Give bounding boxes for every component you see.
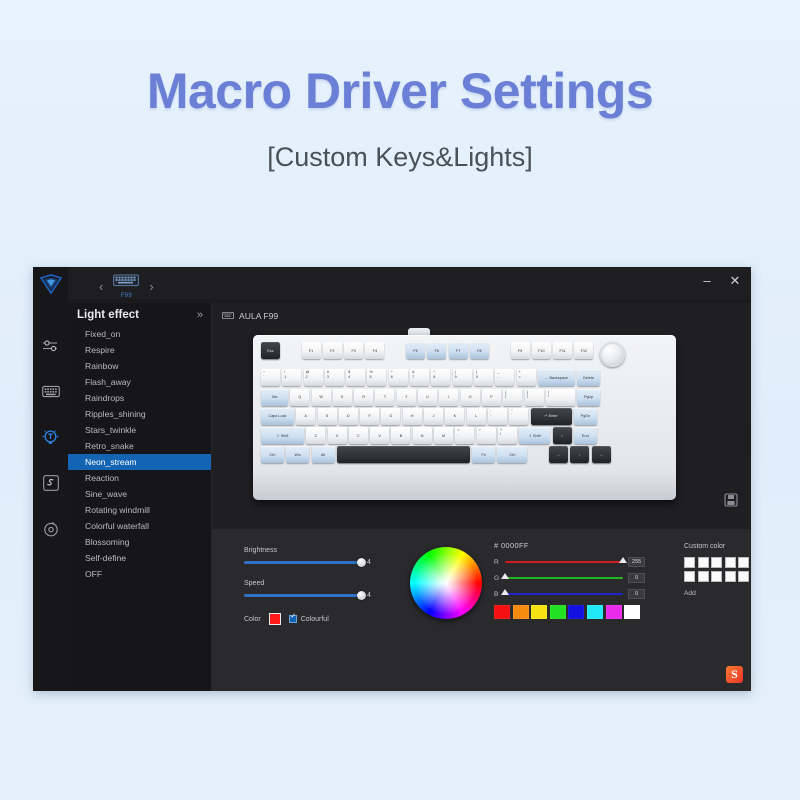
target-icon[interactable] [33, 513, 68, 545]
key-legend: F3 [344, 348, 363, 352]
page-root: Macro Driver Settings [Custom Keys&Light… [0, 0, 800, 800]
key-legend: F11 [553, 348, 572, 352]
keyboard-key[interactable]: ^ 6 [389, 369, 408, 386]
key-legend: F9 [511, 348, 530, 352]
keyboard-key[interactable]: W [312, 389, 331, 406]
key-legend: S [318, 414, 337, 418]
key-legend: } ] [527, 390, 528, 398]
keyboard-key[interactable]: } ] [525, 389, 544, 406]
rgb-group: # 0000FF R255G0B0 [494, 541, 666, 619]
keyboard-key[interactable]: ) 0 [474, 369, 493, 386]
keyboard-key[interactable]: Y [397, 389, 416, 406]
keyboard-key[interactable]: @ 2 [304, 369, 323, 386]
keyboard-key[interactable]: F7 [449, 342, 468, 359]
keyboard-key[interactable]: { [ [503, 389, 522, 406]
rgb-channel-label: R [494, 559, 500, 566]
key-legend: O [461, 395, 480, 399]
keyboard-key[interactable]: F [360, 408, 379, 425]
keyboard-row: ~ `! 1@ 2# 3$ 4% 5^ 6& 7* 8( 9) 0_ -+ =←… [261, 369, 668, 386]
light-effect-header: Light effect » [68, 303, 211, 324]
key-legend: F6 [427, 348, 446, 352]
keyboard-key[interactable]: S [318, 408, 337, 425]
light-effect-item[interactable]: Neon_stream [68, 454, 211, 470]
keyboard-key[interactable]: < , [455, 427, 474, 444]
keyboard-key[interactable]: ? / [498, 427, 517, 444]
colourful-label: Colourful [301, 616, 329, 623]
key-legend: ( 9 [455, 370, 457, 378]
rgb-slider-row: B0 [494, 589, 666, 599]
rgb-slider-rows: R255G0B0 [494, 557, 666, 599]
keyboard-key[interactable]: ( 9 [453, 369, 472, 386]
key-legend: Y [397, 395, 416, 399]
keyboard-row: Caps LockASDFGHJKL: ;" '↵ EnterPgDn [261, 408, 668, 425]
key-legend: @ 2 [306, 370, 310, 378]
rgb-slider-thumb[interactable] [501, 589, 509, 595]
keyboard-key[interactable]: ⇧ Shift [519, 427, 550, 444]
rgb-slider-b[interactable] [505, 593, 623, 595]
keyboard-key[interactable]: T [375, 389, 394, 406]
keyboard-key[interactable]: Esc [261, 342, 280, 359]
volume-knob[interactable] [600, 342, 625, 367]
color-row: Color Colourful [244, 613, 392, 625]
keyboard-key[interactable]: : ; [488, 408, 507, 425]
key-legend: ⇧ Shift [519, 434, 550, 438]
key-legend: Ctrl [261, 453, 284, 457]
custom-color-grid [684, 557, 751, 582]
keyboard-key[interactable]: P [482, 389, 501, 406]
keyboard-key[interactable]: K [445, 408, 464, 425]
control-bar: Brightness 4 Speed 4 [212, 529, 751, 691]
key-legend: V [370, 434, 389, 438]
device-switcher: ‹ [99, 274, 154, 299]
custom-color-slot[interactable] [698, 571, 709, 582]
custom-color-slot[interactable] [738, 571, 749, 582]
slider-group: Brightness 4 Speed 4 [244, 547, 392, 625]
key-legend: I [439, 395, 458, 399]
keyboard-key[interactable]: F8 [470, 342, 489, 359]
driver-app-window: – ✕ [33, 267, 751, 691]
keyboard-key[interactable] [337, 446, 470, 463]
light-effect-item[interactable]: Blossoming [68, 534, 211, 550]
rgb-value-input[interactable]: 0 [628, 589, 645, 599]
light-effect-item[interactable]: Respire [68, 342, 211, 358]
key-legend: ↓ [570, 453, 589, 457]
device-chip[interactable]: F99 [113, 274, 139, 299]
speed-slider-row: 4 [244, 592, 392, 599]
keyboard-key[interactable]: X [328, 427, 347, 444]
key-legend: K [445, 414, 464, 418]
current-color-swatch[interactable] [269, 613, 281, 625]
color-label: Color [244, 616, 261, 623]
speed-slider[interactable] [244, 594, 362, 597]
watermark-badge: S [726, 666, 743, 683]
keyboard-key[interactable]: Caps Lock [261, 408, 294, 425]
light-effect-item[interactable]: Sine_wave [68, 486, 211, 502]
keyboard-key[interactable]: O [461, 389, 480, 406]
key-legend: J [424, 414, 443, 418]
keyboard-key[interactable]: I [439, 389, 458, 406]
keyboard-key[interactable]: ← Backspace [538, 369, 575, 386]
key-legend: | \ [548, 390, 549, 398]
key-legend: F5 [406, 348, 425, 352]
keyboard-key[interactable]: * 8 [431, 369, 450, 386]
prev-device-button[interactable]: ‹ [99, 279, 103, 294]
key-legend: T [375, 395, 394, 399]
key-legend: { [ [505, 390, 506, 398]
keyboard-key[interactable]: U [418, 389, 437, 406]
key-legend: Q [290, 395, 309, 399]
hex-value-label: # 0000FF [494, 541, 666, 550]
light-effect-title: Light effect [77, 309, 139, 321]
key-legend: → [592, 453, 611, 457]
rgb-slider-thumb[interactable] [501, 573, 509, 579]
custom-color-slot[interactable] [725, 571, 736, 582]
keyboard-key[interactable]: R [354, 389, 373, 406]
keyboard-key[interactable]: Ctrl [497, 446, 527, 463]
device-keyboard-icon [113, 274, 139, 292]
keyboard-spacer [282, 342, 299, 359]
light-effect-panel: Light effect » Fixed_onRespireRainbowFla… [68, 303, 212, 691]
key-legend: + = [519, 370, 521, 378]
key-legend: W [312, 395, 331, 399]
keyboard-key[interactable]: H [403, 408, 422, 425]
speed-value: 4 [367, 592, 371, 599]
key-legend: End [574, 434, 597, 438]
macro-icon[interactable] [33, 467, 68, 499]
light-effect-item[interactable]: Rainbow [68, 358, 211, 374]
preset-color-swatch[interactable] [550, 605, 566, 619]
keyboard-key[interactable]: A [296, 408, 315, 425]
keyboard-key[interactable]: Delete [577, 369, 600, 386]
keyboard-key[interactable]: F3 [344, 342, 363, 359]
sliders-icon[interactable] [33, 329, 68, 361]
preset-color-swatch[interactable] [587, 605, 603, 619]
light-effect-item[interactable]: Retro_snake [68, 438, 211, 454]
key-legend: D [339, 414, 358, 418]
collapse-panel-button[interactable]: » [197, 309, 203, 321]
key-legend: F [360, 414, 379, 418]
keyboard-key[interactable]: Fn [472, 446, 495, 463]
connected-device-label: AULA F99 [222, 311, 278, 321]
save-icon[interactable] [724, 493, 738, 507]
key-legend: Esc [261, 348, 280, 352]
key-legend: ← [549, 453, 568, 457]
preset-color-swatch[interactable] [568, 605, 584, 619]
key-legend: ↑ [553, 434, 572, 438]
keyboard-row: ⇧ ShiftZXCVBNM< ,> .? /⇧ Shift↑End [261, 427, 668, 444]
keyboard-row: EscF1F2F3F4F5F6F7F8F9F10F11F12 [261, 342, 668, 367]
key-legend: ↵ Enter [531, 414, 572, 418]
keyboard-key[interactable]: End [574, 427, 597, 444]
keyboard-key[interactable]: F1 [302, 342, 321, 359]
keyboard-spacer [530, 446, 547, 463]
keyboard-key[interactable]: PgUp [577, 389, 600, 406]
keyboard-key[interactable]: " ' [509, 408, 528, 425]
checkbox-checked-icon [289, 615, 297, 623]
key-legend: ~ ` [263, 370, 265, 378]
key-legend: Alt [312, 453, 335, 457]
key-legend: F4 [365, 348, 384, 352]
key-legend: ⇧ Shift [261, 434, 304, 438]
key-legend: L [467, 414, 486, 418]
key-legend: ) 0 [476, 370, 478, 378]
keyboard-preview[interactable]: EscF1F2F3F4F5F6F7F8F9F10F11F12~ `! 1@ 2#… [253, 335, 676, 500]
key-legend: PgUp [577, 395, 600, 399]
custom-color-slot[interactable] [725, 557, 736, 568]
custom-color-group: Custom color Add [684, 543, 751, 597]
keyboard-key[interactable]: M [434, 427, 453, 444]
rgb-slider-row: R255 [494, 557, 666, 567]
light-effect-item[interactable]: Fixed_on [68, 326, 211, 342]
keyboard-key[interactable]: F11 [553, 342, 572, 359]
keyboard-key[interactable]: ↑ [553, 427, 572, 444]
light-effect-item[interactable]: Stars_twinkle [68, 422, 211, 438]
lightbulb-icon[interactable] [33, 421, 68, 453]
keyboard-key[interactable]: Z [306, 427, 325, 444]
key-legend: * 8 [433, 370, 435, 378]
preset-color-swatch[interactable] [494, 605, 510, 619]
keyboard-key[interactable]: J [424, 408, 443, 425]
custom-color-slot[interactable] [698, 557, 709, 568]
brightness-slider-thumb[interactable] [357, 558, 366, 567]
key-legend: Caps Lock [261, 414, 294, 418]
preset-color-swatch[interactable] [624, 605, 640, 619]
keyboard-key[interactable]: F4 [365, 342, 384, 359]
key-legend: # 3 [327, 370, 329, 378]
keyboard-key[interactable]: G [381, 408, 400, 425]
keyboard-key[interactable]: $ 4 [346, 369, 365, 386]
key-legend: G [381, 414, 400, 418]
light-effect-item[interactable]: Reaction [68, 470, 211, 486]
small-keyboard-icon [222, 311, 234, 321]
key-legend: > . [479, 428, 481, 436]
keyboard-key[interactable]: V [370, 427, 389, 444]
keyboard-key[interactable]: B [391, 427, 410, 444]
color-wheel[interactable] [410, 547, 482, 619]
keyboard-key[interactable]: ~ ` [261, 369, 280, 386]
keyboard-spacer [491, 342, 508, 359]
key-legend: M [434, 434, 453, 438]
keyboard-key[interactable]: Win [286, 446, 309, 463]
key-legend: Delete [577, 376, 600, 380]
key-legend: " ' [511, 409, 512, 417]
keyboard-key[interactable]: Ctrl [261, 446, 284, 463]
key-legend: H [403, 414, 422, 418]
key-legend: F7 [449, 348, 468, 352]
preset-color-swatch[interactable] [531, 605, 547, 619]
rgb-value-input[interactable]: 0 [628, 573, 645, 583]
keyboard-key[interactable]: % 5 [367, 369, 386, 386]
keyboard-key[interactable]: F5 [406, 342, 425, 359]
content-area: AULA F99 EscF1F2F3F4F5F6F7F8F9F10F11F12~… [212, 303, 751, 691]
custom-color-slot[interactable] [684, 557, 695, 568]
key-legend: F10 [532, 348, 551, 352]
keyboard-key[interactable]: F10 [532, 342, 551, 359]
preset-color-row [494, 605, 666, 619]
keyboard-key[interactable]: > . [477, 427, 496, 444]
key-legend: E [333, 395, 352, 399]
preset-color-swatch[interactable] [606, 605, 622, 619]
window-controls: – ✕ [699, 273, 743, 289]
keyboard-key[interactable]: PgDn [574, 408, 597, 425]
key-legend: Ctrl [497, 453, 527, 457]
keyboard-spacer [387, 342, 404, 359]
keyboard-key[interactable]: F6 [427, 342, 446, 359]
key-legend: U [418, 395, 437, 399]
page-title: Macro Driver Settings [0, 62, 800, 120]
keyboard-key[interactable]: C [349, 427, 368, 444]
colourful-checkbox[interactable]: Colourful [289, 615, 329, 623]
aula-logo [39, 273, 63, 295]
light-effect-list: Fixed_onRespireRainbowFlash_awayRaindrop… [68, 326, 211, 582]
keyboard-row: CtrlWinAltFnCtrl←↓→ [261, 446, 668, 463]
key-legend: F12 [574, 348, 593, 352]
keyboard-key[interactable]: & 7 [410, 369, 429, 386]
rgb-slider-g[interactable] [505, 577, 623, 579]
keyboard-key[interactable]: L [467, 408, 486, 425]
rgb-slider-r[interactable] [505, 561, 623, 563]
key-legend: F8 [470, 348, 489, 352]
speed-label: Speed [244, 580, 392, 587]
custom-color-slot[interactable] [711, 557, 722, 568]
keyboard-key[interactable]: F12 [574, 342, 593, 359]
brightness-value: 4 [367, 559, 371, 566]
page-subtitle: [Custom Keys&Lights] [0, 142, 800, 173]
keyboard-key[interactable]: D [339, 408, 358, 425]
device-model-text: AULA F99 [239, 311, 278, 321]
keyboard-key[interactable]: | \ [546, 389, 575, 406]
next-device-button[interactable]: › [149, 279, 153, 294]
key-legend: % 5 [369, 370, 372, 378]
key-legend: & 7 [412, 370, 415, 378]
keyboard-key[interactable]: F2 [323, 342, 342, 359]
key-legend: Win [286, 453, 309, 457]
rgb-value-input[interactable]: 255 [628, 557, 645, 567]
key-legend: B [391, 434, 410, 438]
light-effect-item[interactable]: Flash_away [68, 374, 211, 390]
custom-color-slot[interactable] [684, 571, 695, 582]
key-legend: Fn [472, 453, 495, 457]
brightness-slider[interactable] [244, 561, 362, 564]
key-legend: F2 [323, 348, 342, 352]
key-legend: N [413, 434, 432, 438]
keyboard-key[interactable]: F9 [511, 342, 530, 359]
close-button[interactable]: ✕ [727, 273, 743, 289]
speed-slider-thumb[interactable] [357, 591, 366, 600]
rgb-channel-label: B [494, 591, 500, 598]
keyboard-key[interactable]: # 3 [325, 369, 344, 386]
preset-color-swatch[interactable] [513, 605, 529, 619]
keyboard-icon[interactable] [33, 375, 68, 407]
keyboard-key[interactable]: Q [290, 389, 309, 406]
key-legend: A [296, 414, 315, 418]
brightness-label: Brightness [244, 547, 392, 554]
key-legend: C [349, 434, 368, 438]
light-effect-item[interactable]: Rotating windmill [68, 502, 211, 518]
key-legend: Tab [261, 395, 288, 399]
light-effect-item[interactable]: Colorful waterfall [68, 518, 211, 534]
rgb-slider-thumb[interactable] [619, 557, 627, 563]
key-legend: X [328, 434, 347, 438]
keyboard-key[interactable]: ! 1 [282, 369, 301, 386]
keyboard-row: TabQWERTYUIOP{ [} ]| \PgUp [261, 389, 668, 406]
rail-icon-list [33, 329, 68, 559]
keyboard-key[interactable]: Tab [261, 389, 288, 406]
light-effect-item[interactable]: Raindrops [68, 390, 211, 406]
minimize-button[interactable]: – [699, 273, 715, 289]
key-legend: P [482, 395, 501, 399]
rgb-slider-row: G0 [494, 573, 666, 583]
light-effect-item[interactable]: Self-define [68, 550, 211, 566]
rgb-channel-label: G [494, 575, 500, 582]
key-legend: ← Backspace [538, 376, 575, 380]
key-legend: : ; [490, 409, 491, 417]
custom-color-slot[interactable] [738, 557, 749, 568]
keyboard-key[interactable]: _ - [495, 369, 514, 386]
key-legend: PgDn [574, 414, 597, 418]
keyboard-key[interactable]: ↓ [570, 446, 589, 463]
device-name-label: F99 [113, 293, 139, 299]
key-legend: ! 1 [284, 370, 286, 378]
key-legend: _ - [497, 370, 499, 378]
keyboard-key[interactable]: Alt [312, 446, 335, 463]
add-custom-color-button[interactable]: Add [684, 590, 751, 597]
keyboard-key[interactable]: ⇧ Shift [261, 427, 304, 444]
keyboard-key[interactable]: N [413, 427, 432, 444]
key-legend: $ 4 [348, 370, 350, 378]
key-legend: R [354, 395, 373, 399]
left-rail [33, 267, 68, 691]
light-effect-item[interactable]: Ripples_shining [68, 406, 211, 422]
keyboard-key[interactable]: ↵ Enter [531, 408, 572, 425]
key-legend: ? / [500, 428, 502, 436]
custom-color-title: Custom color [684, 543, 751, 550]
keyboard-key[interactable]: + = [517, 369, 536, 386]
keyboard-key[interactable]: E [333, 389, 352, 406]
key-legend: ^ 6 [391, 370, 393, 378]
keyboard-key[interactable]: ← [549, 446, 568, 463]
key-legend: < , [457, 428, 459, 436]
key-legend: F1 [302, 348, 321, 352]
light-effect-item[interactable]: OFF [68, 566, 211, 582]
key-legend: Z [306, 434, 325, 438]
custom-color-slot[interactable] [711, 571, 722, 582]
keyboard-key[interactable]: → [592, 446, 611, 463]
brightness-slider-row: 4 [244, 559, 392, 566]
